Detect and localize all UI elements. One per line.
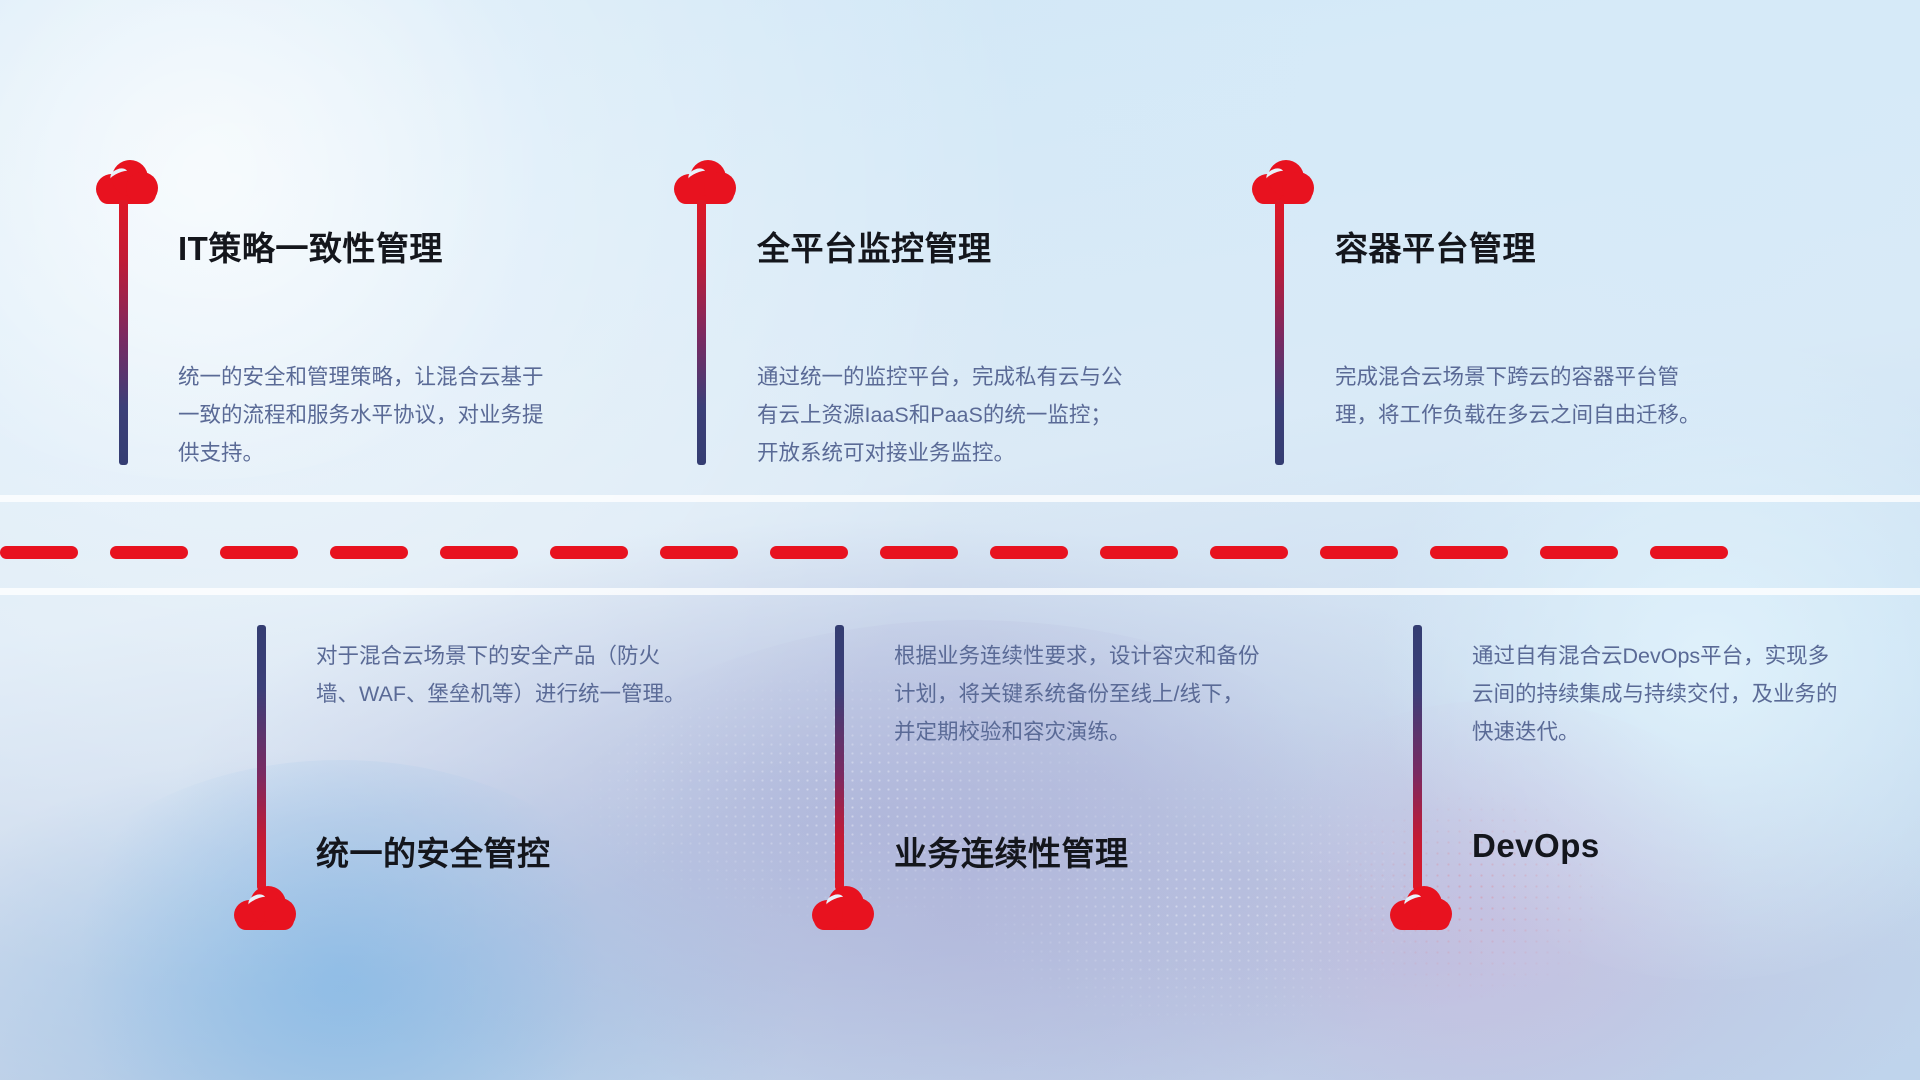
cloud-icon <box>1390 886 1452 930</box>
top-title-3: 容器平台管理 <box>1335 222 1536 270</box>
divider-dash <box>440 546 518 559</box>
connector-stem <box>697 200 706 465</box>
cloud-icon <box>1252 160 1314 204</box>
connector-stem <box>1275 200 1284 465</box>
bottom-body-3: 通过自有混合云DevOps平台，实现多云间的持续集成与持续交付，及业务的快速迭代… <box>1472 637 1842 751</box>
divider-dash <box>1210 546 1288 559</box>
cloud-icon <box>234 886 296 930</box>
cloud-icon <box>674 160 736 204</box>
connector-stem <box>119 200 128 465</box>
top-body-1: 统一的安全和管理策略，让混合云基于一致的流程和服务水平协议，对业务提供支持。 <box>178 358 548 472</box>
divider-dash <box>1430 546 1508 559</box>
background-bloom <box>30 760 650 1080</box>
divider-dash <box>550 546 628 559</box>
infographic-canvas: IT策略一致性管理 统一的安全和管理策略，让混合云基于一致的流程和服务水平协议，… <box>0 0 1920 1080</box>
top-body-2: 通过统一的监控平台，完成私有云与公有云上资源IaaS和PaaS的统一监控；开放系… <box>757 358 1127 472</box>
decorative-dot-field <box>1300 760 1720 1060</box>
divider-dash <box>110 546 188 559</box>
divider-dash <box>1650 546 1728 559</box>
divider-dash <box>880 546 958 559</box>
dashed-divider-line <box>0 546 1920 559</box>
divider-dash <box>990 546 1068 559</box>
divider-dash <box>0 546 78 559</box>
bottom-title-2: 业务连续性管理 <box>894 827 1129 875</box>
divider-rule-top <box>0 495 1920 502</box>
cloud-icon <box>96 160 158 204</box>
bottom-body-2: 根据业务连续性要求，设计容灾和备份计划，将关键系统备份至线上/线下，并定期校验和… <box>894 637 1264 751</box>
divider-dash <box>1540 546 1618 559</box>
bottom-title-1: 统一的安全管控 <box>316 827 551 875</box>
connector-stem <box>257 625 266 890</box>
divider-dash <box>330 546 408 559</box>
bottom-body-1: 对于混合云场景下的安全产品（防火墙、WAF、堡垒机等）进行统一管理。 <box>316 637 686 713</box>
connector-stem <box>1413 625 1422 890</box>
top-body-3: 完成混合云场景下跨云的容器平台管理，将工作负载在多云之间自由迁移。 <box>1335 358 1705 434</box>
top-title-1: IT策略一致性管理 <box>178 222 443 270</box>
divider-dash <box>1100 546 1178 559</box>
divider-dash <box>770 546 848 559</box>
divider-rule-bottom <box>0 588 1920 595</box>
top-title-2: 全平台监控管理 <box>757 222 992 270</box>
bottom-title-3: DevOps <box>1472 827 1600 865</box>
divider-dash <box>1320 546 1398 559</box>
divider-dash <box>220 546 298 559</box>
cloud-icon <box>812 886 874 930</box>
divider-dash <box>660 546 738 559</box>
connector-stem <box>835 625 844 890</box>
